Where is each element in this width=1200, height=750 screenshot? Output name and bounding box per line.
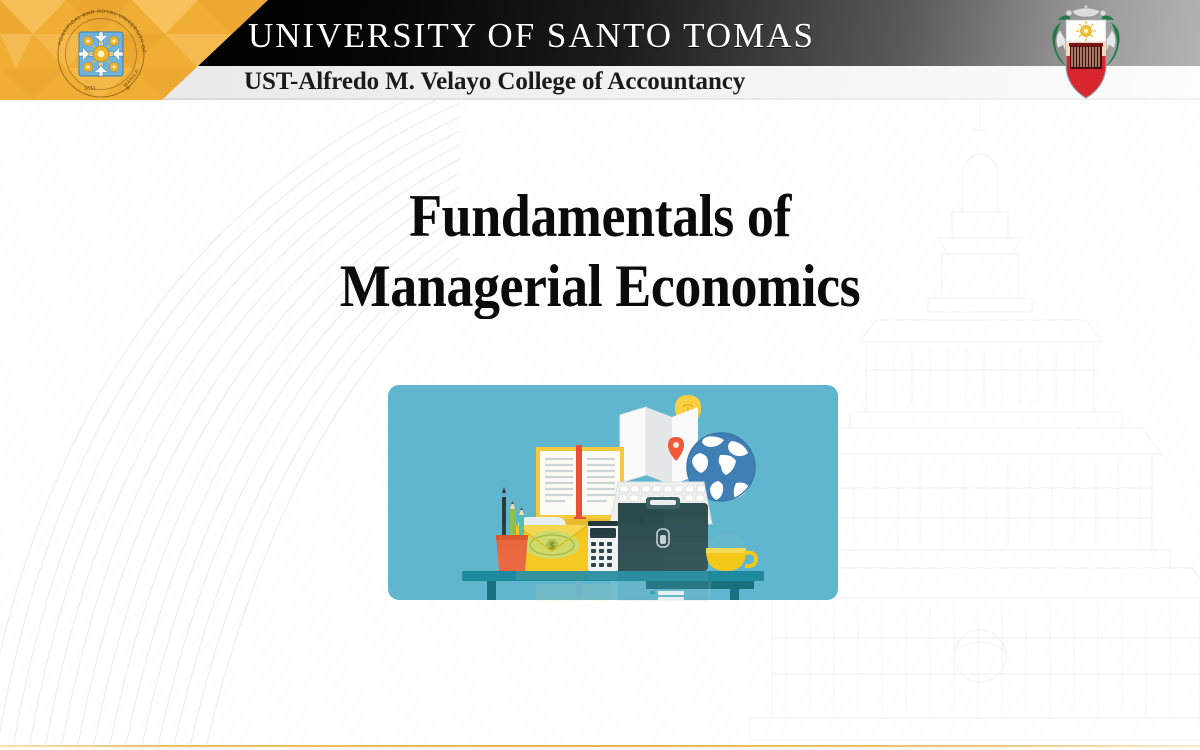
desk-icon — [462, 571, 764, 600]
university-name: UNIVERSITY OF SANTO TOMAS — [248, 16, 815, 56]
desk-scene-svg: $ — [388, 385, 838, 600]
college-name: UST-Alfredo M. Velayo College of Account… — [244, 68, 745, 96]
coffee-cup-icon — [706, 548, 756, 571]
title-slide: PONTIFICAL AND ROYAL UNIVERSITY OF SANTO… — [0, 0, 1200, 750]
svg-text:®: ® — [126, 85, 131, 92]
ust-seal-icon: PONTIFICAL AND ROYAL UNIVERSITY OF SANTO… — [42, 8, 160, 100]
briefcase-icon — [618, 497, 708, 571]
education-desk-illustration: $ — [388, 385, 838, 600]
illustration-block: $ — [388, 385, 838, 670]
pencil-cup-icon — [496, 487, 528, 571]
money-bill-icon: $ — [524, 531, 580, 559]
open-book-icon — [536, 445, 624, 529]
slide-header: PONTIFICAL AND ROYAL UNIVERSITY OF SANTO… — [0, 0, 1200, 104]
ust-coat-of-arms-icon — [1036, 2, 1136, 106]
footer-gold-rule — [0, 745, 1200, 747]
title-line-1: Fundamentals of — [60, 182, 1140, 252]
folded-map-icon — [620, 407, 698, 485]
svg-text:1611: 1611 — [84, 86, 96, 92]
title-line-2: Managerial Economics — [60, 252, 1140, 322]
calculator-icon — [588, 521, 618, 571]
page-title: Fundamentals of Managerial Economics — [0, 182, 1200, 321]
